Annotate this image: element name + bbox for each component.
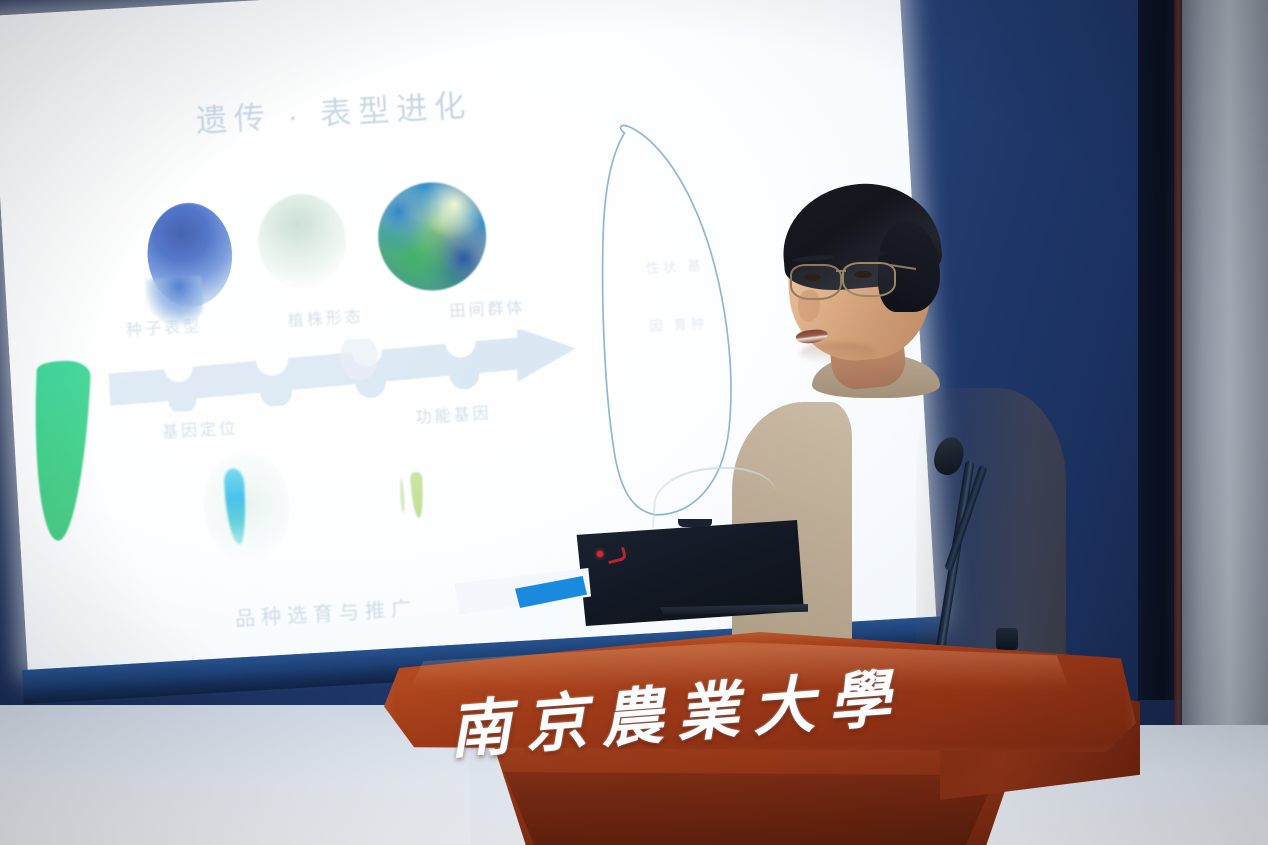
leaf-inner-text: 性状 基因 育种 xyxy=(644,237,711,356)
slide-title: 遗传 · 表型进化 xyxy=(195,80,474,141)
speaker-eye-left xyxy=(804,274,821,281)
figure-pod-thin xyxy=(399,479,405,513)
figure-label-2: 植株形态 xyxy=(287,303,364,331)
figure-field-photo xyxy=(375,179,489,293)
eyeglasses-bridge xyxy=(836,270,846,272)
figure-plant-sketch xyxy=(256,192,349,291)
figure-leaf-illustration xyxy=(29,359,91,541)
figure-label-4: 基因定位 xyxy=(161,414,238,442)
laptop-lid-notch xyxy=(678,519,712,527)
speaker-chin-shadow xyxy=(800,342,876,364)
process-arrow xyxy=(105,326,588,416)
figure-label-5: 功能基因 xyxy=(415,399,492,427)
lectern: 南京農業大學 xyxy=(370,612,1160,845)
laptop-logo-dot-icon xyxy=(597,551,603,557)
door-frame-edge xyxy=(1174,0,1182,760)
speaker-eye-right xyxy=(855,271,872,278)
eyeglasses-right-lens xyxy=(842,262,896,297)
figure-root-scan-circle xyxy=(200,449,292,564)
presentation-photo: 遗传 · 表型进化 种子表型 植株形态 田间群体 基因定位 功能基因 xyxy=(0,0,1268,845)
figure-label-1: 种子表型 xyxy=(125,312,202,340)
door-panel xyxy=(1182,0,1268,760)
figure-pod-illustration xyxy=(410,471,425,518)
figure-label-3: 田间群体 xyxy=(449,293,526,321)
